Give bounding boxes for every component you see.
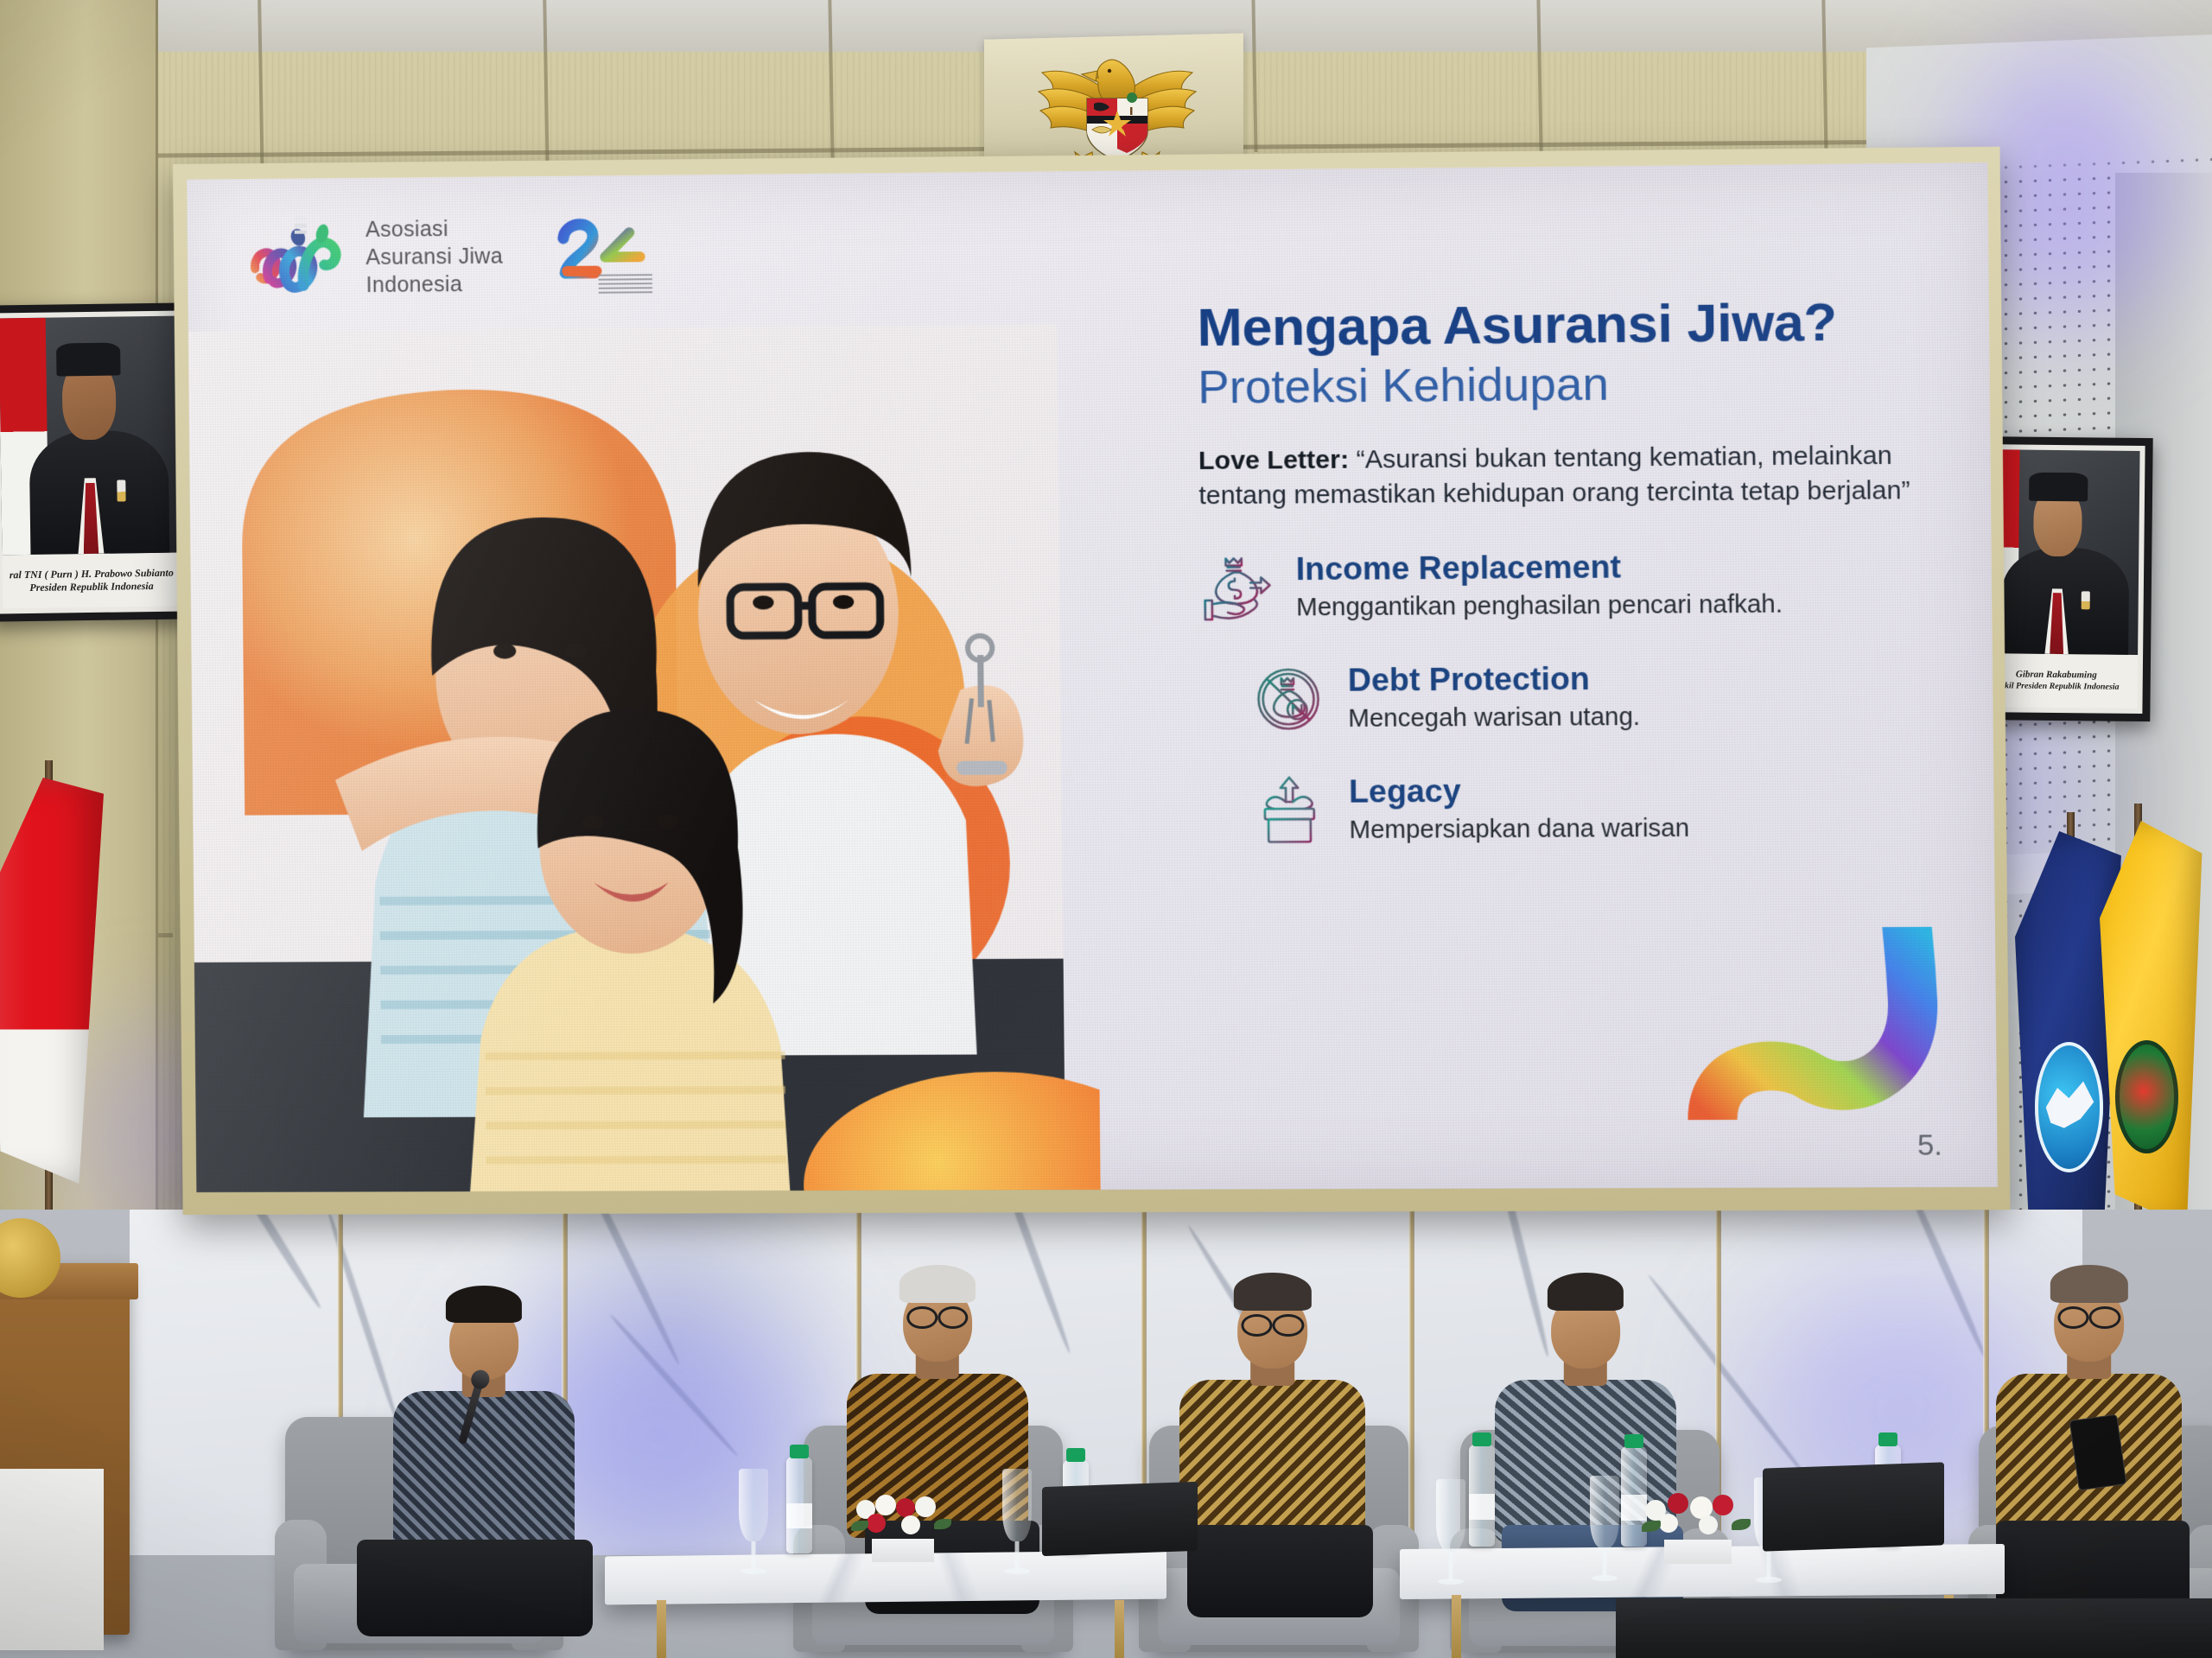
portrait-role: Presiden Republik Indonesia bbox=[29, 580, 154, 594]
slide-page-number: 5. bbox=[1917, 1128, 1942, 1163]
slide-title: Mengapa Asuransi Jiwa? bbox=[1197, 294, 1928, 356]
eyeglasses bbox=[906, 1309, 968, 1326]
presentation-slide: Asosiasi Asuransi Jiwa Indonesia bbox=[187, 162, 1998, 1192]
gradient-swoosh-decoration bbox=[1675, 927, 1942, 1121]
benefit-desc: Menggantikan penghasilan pencari nafkah. bbox=[1296, 590, 1783, 624]
podium-panel bbox=[0, 1469, 104, 1650]
panelist-2 bbox=[847, 1244, 1028, 1538]
backdrop-seam bbox=[1408, 1210, 1414, 1555]
laptop[interactable] bbox=[1042, 1482, 1198, 1556]
slide-subtitle: Proteksi Kehidupan bbox=[1198, 356, 1929, 415]
benefit-desc: Mencegah warisan utang. bbox=[1348, 702, 1640, 734]
panelist-3 bbox=[1179, 1253, 1365, 1542]
money-bag-hand-icon bbox=[1199, 551, 1274, 625]
tut-wuri-handayani-emblem bbox=[2035, 1042, 2103, 1172]
mobile-phone[interactable] bbox=[2069, 1414, 2127, 1491]
aaji-logo-text: Asosiasi Asuransi Jiwa Indonesia bbox=[365, 214, 504, 299]
monitor-back bbox=[1616, 1598, 2212, 1658]
no-debt-icon bbox=[1251, 663, 1325, 736]
benefit-debt-protection: Debt Protection Mencegah warisan utang. bbox=[1251, 659, 1931, 737]
eyeglasses bbox=[2057, 1309, 2120, 1326]
wine-glass[interactable] bbox=[1002, 1469, 1032, 1541]
aaji-logo: Asosiasi Asuransi Jiwa Indonesia bbox=[250, 213, 504, 302]
led-screen-frame: Asosiasi Asuransi Jiwa Indonesia bbox=[173, 147, 2010, 1215]
love-letter-label: Love Letter: bbox=[1198, 445, 1349, 475]
wine-glass[interactable] bbox=[739, 1469, 768, 1541]
water-bottle[interactable] bbox=[786, 1457, 812, 1553]
laptop[interactable] bbox=[1763, 1462, 1944, 1551]
panelist-5 bbox=[1996, 1244, 2182, 1538]
gift-arrow-icon bbox=[1252, 774, 1326, 848]
benefit-income-replacement: Income Replacement Menggantikan penghasi… bbox=[1199, 547, 1930, 625]
anniversary-24-logo bbox=[555, 215, 649, 295]
portrait-photo bbox=[0, 316, 180, 556]
aaji-line-1: Asosiasi bbox=[365, 214, 503, 244]
family-photo-block bbox=[188, 324, 1101, 1192]
water-bottle[interactable] bbox=[1469, 1445, 1495, 1547]
portrait-role: Wakil Presiden Republik Indonesia bbox=[1993, 681, 2120, 693]
flower-arrangement bbox=[851, 1495, 955, 1562]
slide-text-column: Mengapa Asuransi Jiwa? Proteksi Kehidupa… bbox=[1197, 294, 1932, 848]
eyeglasses bbox=[1241, 1317, 1304, 1334]
portrait-name: Gibran Rakabuming bbox=[2016, 669, 2097, 682]
aaji-line-2: Asuransi Jiwa bbox=[365, 243, 503, 271]
seminar-hall-photo: BHINNEKA TUNGGAL IKA ral TNI ( Purn ) H.… bbox=[0, 0, 2212, 1658]
dove-icon bbox=[2046, 1076, 2094, 1140]
aaji-logo-mark bbox=[250, 214, 354, 302]
slide-logo-row: Asosiasi Asuransi Jiwa Indonesia bbox=[250, 212, 650, 302]
portrait-president: ral TNI ( Purn ) H. Prabowo Subianto Pre… bbox=[0, 302, 194, 621]
benefit-legacy: Legacy Mempersiapkan dana warisan bbox=[1252, 771, 1932, 848]
panelist-1 bbox=[393, 1266, 575, 1551]
benefit-title: Income Replacement bbox=[1296, 549, 1783, 587]
university-emblem bbox=[2115, 1040, 2178, 1154]
wine-glass[interactable] bbox=[1436, 1479, 1465, 1552]
aaji-line-3: Indonesia bbox=[365, 270, 503, 299]
love-letter-block: Love Letter: “Asuransi bukan tentang kem… bbox=[1198, 438, 1929, 513]
family-photo bbox=[188, 324, 1065, 1192]
benefit-title: Debt Protection bbox=[1348, 663, 1640, 698]
anniversary-tagline bbox=[599, 272, 653, 294]
benefit-title: Legacy bbox=[1349, 774, 1689, 810]
wine-glass[interactable] bbox=[1590, 1476, 1619, 1548]
flower-arrangement bbox=[1642, 1493, 1754, 1564]
benefit-desc: Mempersiapkan dana warisan bbox=[1349, 814, 1689, 846]
